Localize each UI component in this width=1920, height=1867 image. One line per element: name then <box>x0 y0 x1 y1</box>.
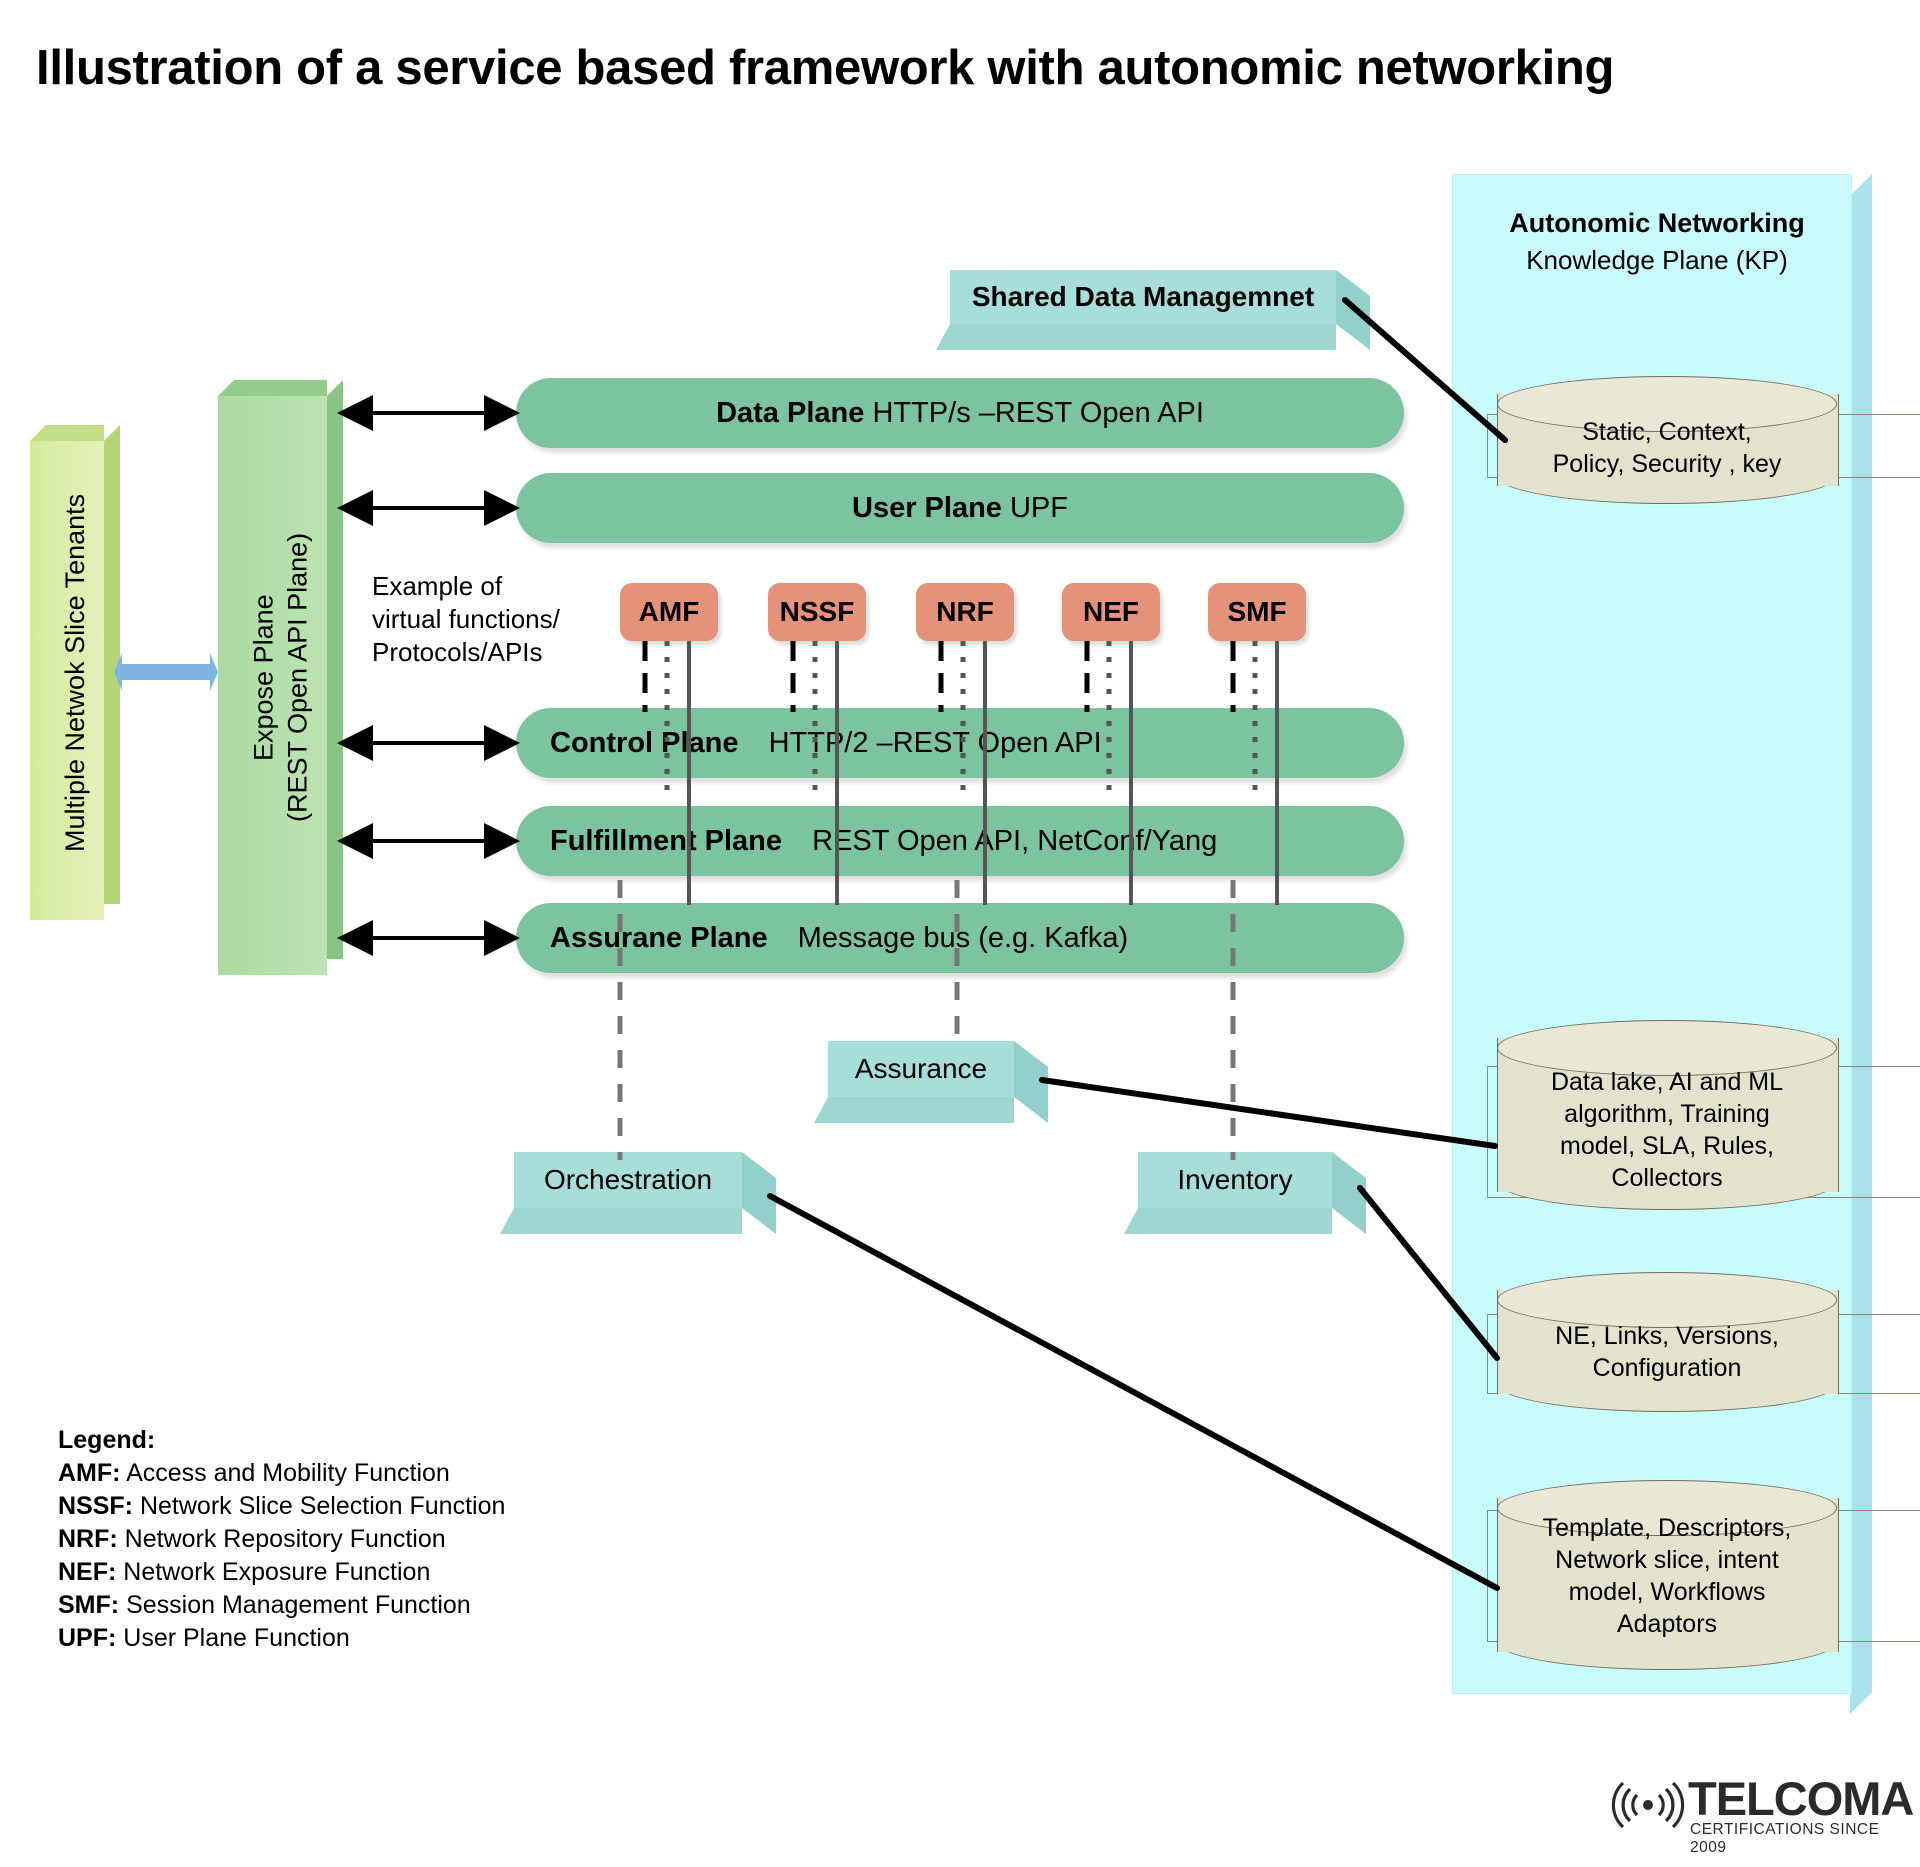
tenants-expose-arrow <box>114 653 218 691</box>
link-assurance-to-data-lake <box>1042 1080 1495 1146</box>
template-store: Template, Descriptors, Network slice, in… <box>1497 1480 1837 1670</box>
legend: Legend: AMF: Access and Mobility Functio… <box>58 1424 698 1655</box>
legend-text: User Plane Function <box>123 1624 350 1652</box>
box-bottom-right <box>1014 1097 1048 1123</box>
box-bottom-right <box>742 1208 776 1234</box>
shared-data-management-box: Shared Data Managemnet <box>950 270 1370 350</box>
store-label: Template, Descriptors, Network slice, in… <box>1497 1512 1837 1640</box>
legend-text: Network Repository Function <box>125 1525 446 1553</box>
control-plane-text: Control Plane HTTP/2 –REST Open API <box>516 727 1404 760</box>
fulfillment-plane-bar: Fulfillment Plane REST Open API, NetConf… <box>516 806 1404 876</box>
nf-nssf[interactable]: NSSF <box>768 583 866 641</box>
box-bottom-left <box>500 1208 514 1234</box>
inventory-box-label: Inventory <box>1138 1152 1332 1208</box>
data-plane-rest: HTTP/s –REST Open API <box>872 397 1203 429</box>
inventory-store: NE, Links, Versions, Configuration <box>1497 1272 1837 1412</box>
nf-nef[interactable]: NEF <box>1062 583 1160 641</box>
orchestration-box-label: Orchestration <box>514 1152 742 1208</box>
box-side <box>1014 1041 1048 1097</box>
box-bottom-left <box>814 1097 828 1123</box>
expose-plane-label: Expose Plane (REST Open API Plane) <box>218 380 343 975</box>
signal-waves-icon <box>1610 1777 1686 1833</box>
store-label: Data lake, AI and ML algorithm, Training… <box>1497 1066 1837 1194</box>
legend-row-nrf: NRF: Network Repository Function <box>58 1523 698 1556</box>
legend-row-nssf: NSSF: Network Slice Selection Function <box>58 1490 698 1523</box>
box-bottom <box>514 1208 742 1234</box>
data-plane-bar: Data Plane HTTP/s –REST Open API <box>516 378 1404 448</box>
data-plane-text: Data Plane HTTP/s –REST Open API <box>516 397 1404 430</box>
diagram-canvas: Illustration of a service based framewor… <box>0 0 1920 1867</box>
tenants-bar-label: Multiple Netwok Slice Tenants <box>30 425 120 920</box>
logo-name: TELCOMA <box>1688 1771 1913 1826</box>
user-plane-text: User Plane UPF <box>516 492 1404 525</box>
fulfillment-plane-bold: Fulfillment Plane <box>550 825 782 857</box>
fulfillment-plane-rest: REST Open API, NetConf/Yang <box>812 825 1217 857</box>
logo-tagline: CERTIFICATIONS SINCE 2009 <box>1690 1821 1910 1857</box>
expose-plane-bar: Expose Plane (REST Open API Plane) <box>218 380 343 975</box>
assurance-plane-bold: Assurane Plane <box>550 922 768 954</box>
control-plane-bold: Control Plane <box>550 727 739 759</box>
control-plane-bar: Control Plane HTTP/2 –REST Open API <box>516 708 1404 778</box>
legend-row-nef: NEF: Network Exposure Function <box>58 1556 698 1589</box>
expose-plane-arrows <box>345 413 512 938</box>
legend-text: Access and Mobility Function <box>126 1459 450 1487</box>
legend-row-smf: SMF: Session Management Function <box>58 1589 698 1622</box>
box-bottom-right <box>1332 1208 1366 1234</box>
telcoma-logo: TELCOMA CERTIFICATIONS SINCE 2009 <box>1610 1775 1910 1845</box>
assurance-box: Assurance <box>828 1041 1048 1123</box>
shared-data-management-label: Shared Data Managemnet <box>950 270 1336 324</box>
box-bottom <box>828 1097 1014 1123</box>
kp-title-line2: Knowledge Plane (KP) <box>1477 245 1837 276</box>
legend-key: SMF: <box>58 1591 119 1619</box>
box-bottom <box>950 324 1336 350</box>
box-side <box>1332 1152 1366 1208</box>
legend-title: Legend: <box>58 1424 698 1457</box>
nf-nrf[interactable]: NRF <box>916 583 1014 641</box>
data-plane-bold: Data Plane <box>716 397 864 429</box>
legend-key: UPF: <box>58 1624 116 1652</box>
nf-smf[interactable]: SMF <box>1208 583 1306 641</box>
legend-text: Network Slice Selection Function <box>140 1492 505 1520</box>
legend-text: Session Management Function <box>126 1591 471 1619</box>
box-bottom-left <box>1124 1208 1138 1234</box>
legend-row-upf: UPF: User Plane Function <box>58 1622 698 1655</box>
store-label: Static, Context, Policy, Security , key <box>1497 416 1837 480</box>
legend-key: AMF: <box>58 1459 120 1487</box>
kp-panel-side <box>1850 174 1872 1714</box>
assurance-plane-text: Assurane Plane Message bus (e.g. Kafka) <box>516 922 1404 955</box>
assurance-plane-bar: Assurane Plane Message bus (e.g. Kafka) <box>516 903 1404 973</box>
legend-key: NRF: <box>58 1525 118 1553</box>
box-bottom <box>1138 1208 1332 1234</box>
box-side <box>742 1152 776 1208</box>
example-note: Example of virtual functions/ Protocols/… <box>372 570 602 669</box>
box-side <box>1336 270 1370 324</box>
nf-amf[interactable]: AMF <box>620 583 718 641</box>
user-plane-bold: User Plane <box>852 492 1002 524</box>
assurance-box-label: Assurance <box>828 1041 1014 1097</box>
legend-key: NEF: <box>58 1558 116 1586</box>
inventory-box: Inventory <box>1138 1152 1366 1234</box>
legend-row-amf: AMF: Access and Mobility Function <box>58 1457 698 1490</box>
link-orchestration-to-template-store <box>770 1196 1497 1588</box>
legend-text: Network Exposure Function <box>123 1558 430 1586</box>
store-label: NE, Links, Versions, Configuration <box>1497 1320 1837 1384</box>
control-plane-rest: HTTP/2 –REST Open API <box>769 727 1102 759</box>
page-title: Illustration of a service based framewor… <box>36 40 1876 96</box>
box-bottom-left <box>936 324 950 350</box>
legend-key: NSSF: <box>58 1492 133 1520</box>
user-plane-bar: User Plane UPF <box>516 473 1404 543</box>
user-plane-rest: UPF <box>1010 492 1068 524</box>
orchestration-box: Orchestration <box>514 1152 776 1234</box>
tenants-bar: Multiple Netwok Slice Tenants <box>30 425 120 920</box>
box-bottom-right <box>1336 324 1370 350</box>
static-context-store: Static, Context, Policy, Security , key <box>1497 376 1837 504</box>
kp-title-line1: Autonomic Networking <box>1477 208 1837 239</box>
assurance-plane-rest: Message bus (e.g. Kafka) <box>798 922 1128 954</box>
fulfillment-plane-text: Fulfillment Plane REST Open API, NetConf… <box>516 825 1404 858</box>
data-lake-store: Data lake, AI and ML algorithm, Training… <box>1497 1020 1837 1210</box>
